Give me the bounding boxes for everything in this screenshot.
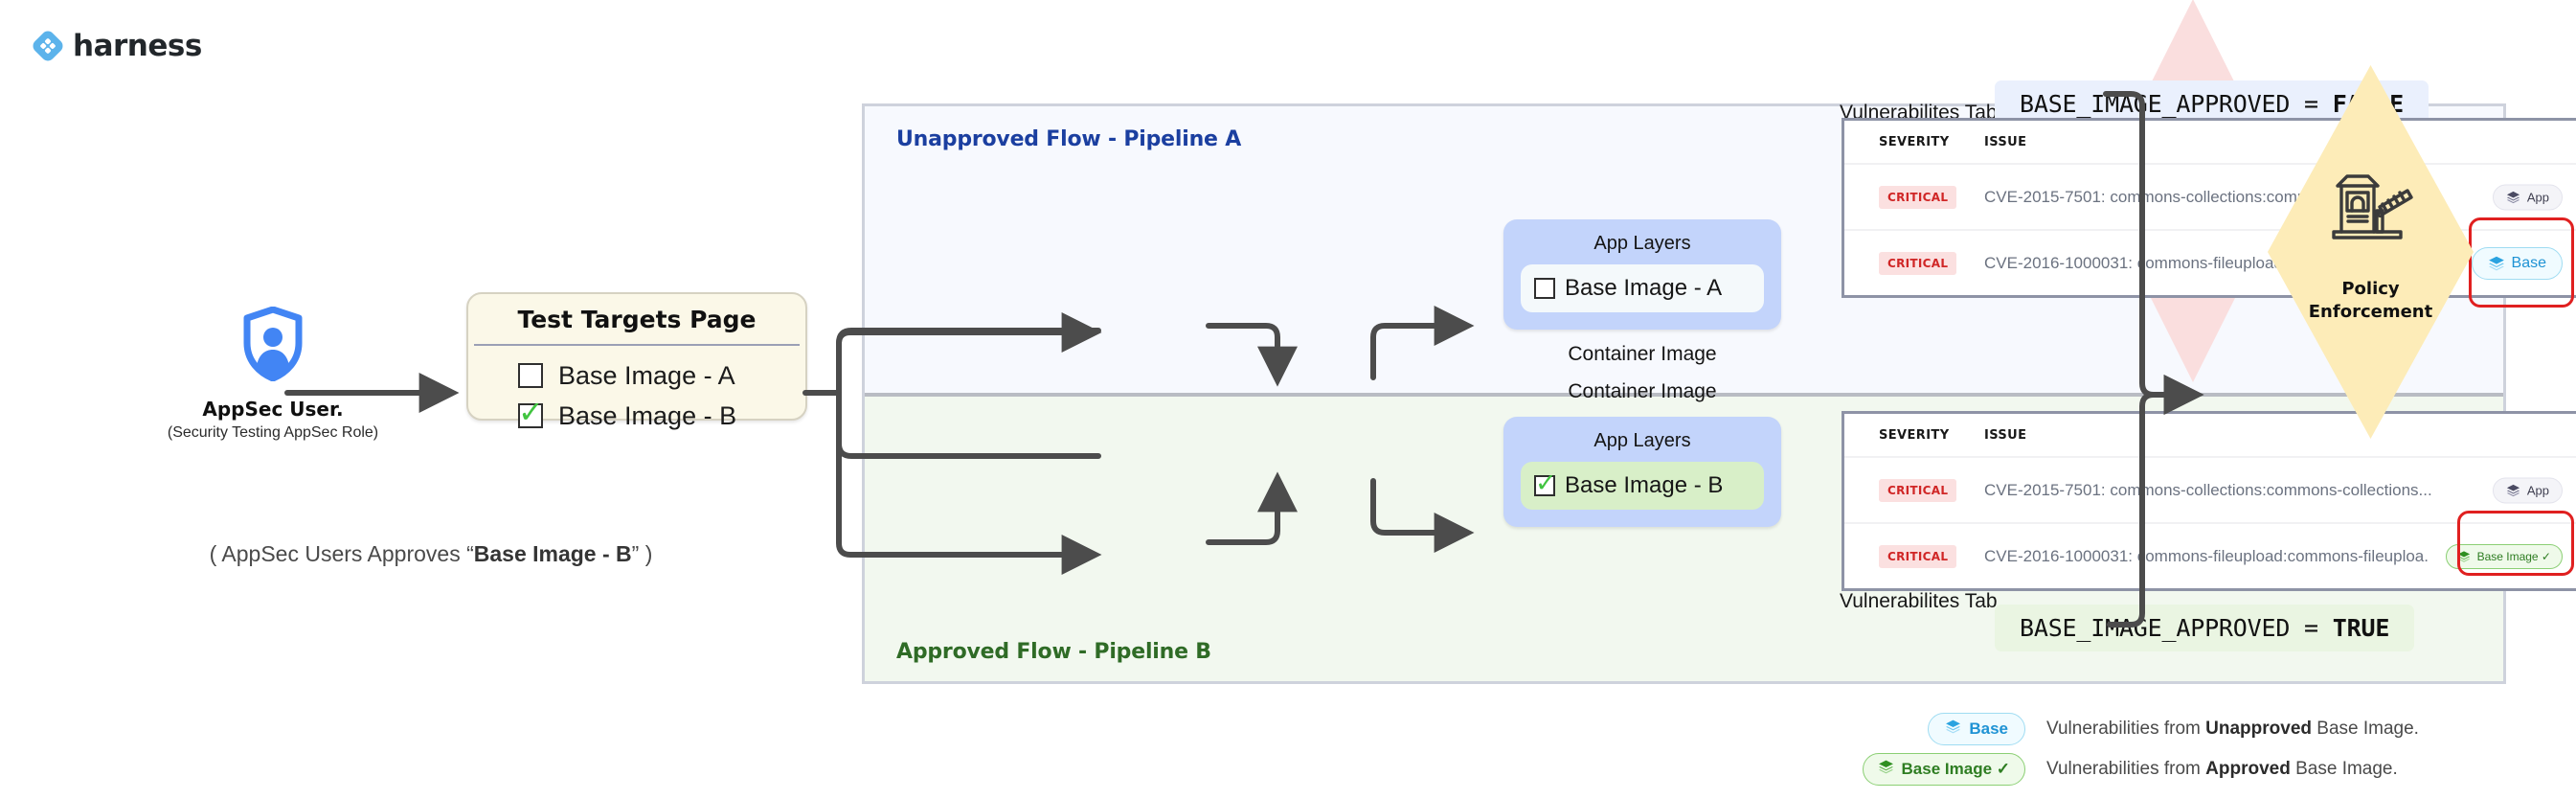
env-var-callout-b: BASE_IMAGE_APPROVED = TRUE — [1995, 605, 2414, 651]
container-image-b: Container Image App Layers ✓ Base Image … — [1503, 380, 1781, 527]
env-var-operator: = — [2304, 614, 2318, 642]
severity-cell: CRITICAL — [1879, 252, 1984, 275]
vuln-tab-label-b: Vulnerabilites Tab — [1840, 590, 1998, 613]
policy-enforcement-label-line2: Enforcement — [2309, 302, 2432, 322]
env-var-name: BASE_IMAGE_APPROVED — [2020, 614, 2290, 642]
column-header-severity: SEVERITY — [1879, 428, 1984, 443]
legend-text-suffix: Base Image. — [2312, 719, 2419, 739]
severity-cell: CRITICAL — [1879, 186, 1984, 209]
base-image-label: Base Image - B — [1565, 472, 1723, 499]
test-targets-card[interactable]: Test Targets Page Base Image - A ✓ Base … — [466, 292, 807, 421]
severity-cell: CRITICAL — [1879, 545, 1984, 568]
highlight-ring — [2457, 511, 2574, 576]
legend-chip-base: Base — [1928, 713, 2025, 745]
legend-text-suffix: Base Image. — [2291, 759, 2398, 779]
container-image-label: Container Image — [1503, 343, 1781, 366]
legend-text-prefix: Vulnerabilities from — [2046, 759, 2205, 779]
legend-text-emphasis: Unapproved — [2205, 719, 2312, 739]
status-badge: CRITICAL — [1879, 479, 1956, 502]
security-gate-barrier-icon — [2326, 172, 2416, 246]
column-header-issue: ISSUE — [1984, 428, 2026, 443]
pane-b-title: Approved Flow - Pipeline B — [896, 640, 1211, 664]
brand-logo: harness — [33, 29, 202, 63]
base-image-chip-a[interactable]: Base Image - A — [1521, 264, 1764, 312]
test-target-label: Base Image - B — [558, 401, 736, 431]
status-badge: CRITICAL — [1879, 186, 1956, 209]
checkbox-unchecked[interactable] — [518, 363, 543, 388]
legend-item: Base Image ✓ Vulnerabilities from Approv… — [1910, 749, 2419, 789]
legend-chip-label: Base Image ✓ — [1902, 760, 2010, 779]
shield-user-icon — [134, 307, 412, 386]
app-layers-box-a: App Layers Base Image - A — [1503, 219, 1781, 330]
legend-text-emphasis: Approved — [2205, 759, 2291, 779]
legend-chip-label: Base — [1969, 719, 2008, 739]
base-image-chip-b[interactable]: ✓ Base Image - B — [1521, 462, 1764, 510]
approval-note-prefix: ( AppSec Users Approves “ — [210, 541, 474, 566]
approval-note: ( AppSec Users Approves “Base Image - B”… — [115, 541, 747, 567]
source-tag-app[interactable]: App — [2493, 477, 2563, 503]
legend-text: Vulnerabilities from Approved Base Image… — [2046, 759, 2398, 780]
source-tag-label: App — [2527, 190, 2549, 204]
harness-diamond-logo-icon — [33, 31, 63, 61]
policy-enforcement-label-line1: Policy — [2341, 279, 2399, 299]
pipeline-diagram-frame: Unapproved Flow - Pipeline A Approved Fl… — [862, 103, 2506, 684]
app-layers-box-b: App Layers ✓ Base Image - B — [1503, 417, 1781, 527]
policy-enforcement-label: Policy Enforcement — [2268, 278, 2474, 325]
issue-cell: CVE-2016-1000031: commons-fileupload:com… — [1984, 547, 2429, 566]
layers-icon — [2506, 190, 2520, 204]
legend: Base Vulnerabilities from Unapproved Bas… — [1910, 709, 2419, 789]
env-var-value: TRUE — [2333, 614, 2389, 642]
legend-chip-wrap: Base — [1910, 713, 2025, 745]
column-header-issue: ISSUE — [1984, 135, 2026, 149]
policy-enforcement-node: Policy Enforcement — [2268, 65, 2474, 439]
container-image-a: App Layers Base Image - A Container Imag… — [1503, 219, 1781, 366]
pane-a-title: Unapproved Flow - Pipeline A — [896, 127, 1241, 151]
column-header-severity: SEVERITY — [1879, 135, 1984, 149]
policy-enforcement-diamond — [2268, 65, 2474, 439]
appsec-user-block: AppSec User. (Security Testing AppSec Ro… — [134, 307, 412, 442]
appsec-user-name: AppSec User. — [134, 398, 412, 421]
severity-cell: CRITICAL — [1879, 479, 1984, 502]
test-target-row-a[interactable]: Base Image - A — [518, 355, 805, 396]
test-target-label: Base Image - A — [558, 361, 735, 391]
checkbox-checked[interactable]: ✓ — [1534, 475, 1555, 496]
legend-chip-wrap: Base Image ✓ — [1910, 753, 2025, 786]
env-var-name: BASE_IMAGE_APPROVED — [2020, 90, 2290, 118]
appsec-user-role: (Security Testing AppSec Role) — [134, 424, 412, 442]
source-tag-label: App — [2527, 483, 2549, 497]
issue-cell: CVE-2015-7501: commons-collections:commo… — [1984, 481, 2432, 500]
approval-note-emphasis: Base Image - B — [474, 541, 632, 566]
legend-text-prefix: Vulnerabilities from — [2046, 719, 2205, 739]
test-targets-title: Test Targets Page — [468, 294, 805, 344]
layers-icon — [1945, 719, 1961, 740]
app-layers-label: App Layers — [1503, 426, 1781, 462]
base-image-label: Base Image - A — [1565, 275, 1722, 302]
app-layers-label: App Layers — [1503, 229, 1781, 264]
legend-item: Base Vulnerabilities from Unapproved Bas… — [1910, 709, 2419, 749]
highlight-ring — [2469, 217, 2574, 308]
checkbox-unchecked[interactable] — [1534, 278, 1555, 299]
brand-name: harness — [73, 29, 202, 63]
table-row[interactable]: CRITICAL CVE-2016-1000031: commons-fileu… — [1844, 522, 2576, 588]
test-target-row-b[interactable]: ✓ Base Image - B — [518, 396, 805, 436]
source-tag-app[interactable]: App — [2493, 184, 2563, 210]
status-badge: CRITICAL — [1879, 545, 1956, 568]
legend-chip-base-approved: Base Image ✓ — [1863, 753, 2025, 786]
approval-note-suffix: ” ) — [632, 541, 653, 566]
layers-icon — [1878, 759, 1894, 780]
legend-text: Vulnerabilities from Unapproved Base Ima… — [2046, 719, 2419, 740]
layers-icon — [2506, 483, 2520, 497]
container-image-label: Container Image — [1503, 380, 1781, 403]
status-badge: CRITICAL — [1879, 252, 1956, 275]
checkbox-checked[interactable]: ✓ — [518, 403, 543, 428]
